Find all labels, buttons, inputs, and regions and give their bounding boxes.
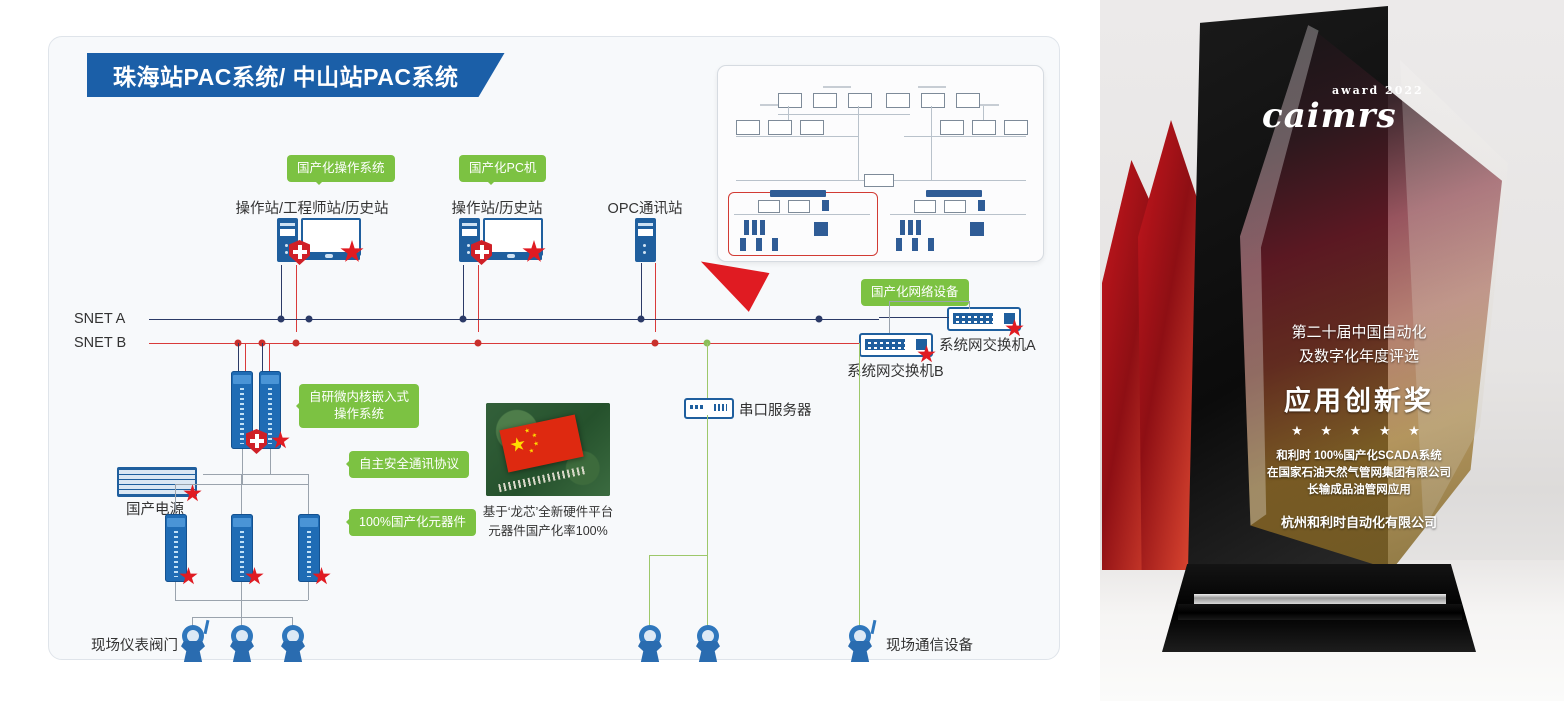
caimrs-logo-sub: award 2022 xyxy=(1332,84,1424,97)
power-supply-icon[interactable] xyxy=(117,467,197,497)
trophy-red-fin-2 xyxy=(1138,120,1198,570)
pac-system-diagram: 珠海站PAC系统/ 中山站PAC系统 xyxy=(48,36,1060,660)
label-serial-server: 串口服务器 xyxy=(739,399,812,420)
rack-leds xyxy=(240,388,244,444)
label-workstation-2: 操作站/历史站 xyxy=(451,197,542,218)
rack-cap xyxy=(233,518,251,527)
caimrs-logo: caimrs xyxy=(1262,96,1397,136)
trophy-base-band xyxy=(1194,594,1446,604)
award-line-2: 及数字化年度评选 xyxy=(1240,345,1478,366)
award-desc-3: 长输成品油管网应用 xyxy=(1228,481,1490,497)
award-title: 应用创新奖 xyxy=(1240,379,1478,418)
io-rack-1[interactable] xyxy=(165,514,187,582)
instrument-body xyxy=(696,641,720,662)
rack-leds xyxy=(174,531,178,577)
rack-leds xyxy=(307,531,311,577)
trophy-base-lower xyxy=(1178,604,1462,620)
diagram-title-banner: 珠海站PAC系统/ 中山站PAC系统 xyxy=(87,53,505,97)
field-comm-instrument-icon[interactable] xyxy=(693,625,723,665)
label-opc-station: OPC通讯站 xyxy=(608,197,683,218)
label-snet-b: SNET B xyxy=(74,335,126,351)
loongson-chip-photo xyxy=(486,403,610,496)
award-desc-1: 和利时 100%国产化SCADA系统 xyxy=(1228,447,1490,463)
label-field-valves: 现场仪表阀门 xyxy=(91,634,178,655)
instrument-body xyxy=(230,641,254,662)
award-stars: ★ ★ ★ ★ ★ xyxy=(1240,423,1478,439)
rack-cap xyxy=(261,375,279,384)
award-company: 杭州和利时自动化有限公司 xyxy=(1220,512,1498,531)
switch-led xyxy=(1004,313,1015,324)
callout-domestic-components: 100%国产化元器件 xyxy=(349,509,476,536)
instrument-body xyxy=(638,641,662,662)
switch-ports xyxy=(865,339,905,350)
rack-leds xyxy=(240,531,244,577)
instrument-body xyxy=(181,641,205,662)
callout-microkernel-os-line2: 操作系统 xyxy=(334,407,384,421)
instrument-body xyxy=(281,641,305,662)
io-rack-2[interactable] xyxy=(231,514,253,582)
award-desc-2: 在国家石油天然气管网集团有限公司 xyxy=(1228,464,1490,480)
security-shield-icon xyxy=(246,429,267,454)
award-trophy-photo: caimrs award 2022 第二十届中国自动化 及数字化年度评选 应用创… xyxy=(1100,0,1564,701)
callout-microkernel-os: 自研微内核嵌入式 操作系统 xyxy=(299,384,419,428)
chip-caption-line1: 基于‘龙芯’全新硬件平台 xyxy=(471,503,625,522)
serial-server-icon[interactable] xyxy=(684,398,734,419)
callout-os: 国产化操作系统 xyxy=(287,155,395,182)
label-field-comm: 现场通信设备 xyxy=(886,634,973,655)
field-instrument-icon[interactable] xyxy=(278,625,308,665)
label-snet-a: SNET A xyxy=(74,311,125,327)
switch-ports xyxy=(953,313,993,324)
award-line-1: 第二十届中国自动化 xyxy=(1240,321,1478,342)
label-switch-b: 系统网交换机B xyxy=(847,360,944,381)
instrument-antenna xyxy=(871,620,877,634)
field-comm-instrument-icon[interactable] xyxy=(845,625,875,665)
flag-big-star xyxy=(509,435,527,453)
field-instrument-icon[interactable] xyxy=(178,625,208,665)
instrument-antenna xyxy=(204,620,210,634)
field-comm-instrument-icon[interactable] xyxy=(635,625,665,665)
chip-caption: 基于‘龙芯’全新硬件平台 元器件国产化率100% xyxy=(471,503,625,541)
label-workstation-1: 操作站/工程师站/历史站 xyxy=(235,197,388,218)
switch-led xyxy=(916,339,927,350)
io-rack-3[interactable] xyxy=(298,514,320,582)
rack-cap xyxy=(167,518,185,527)
label-switch-a: 系统网交换机A xyxy=(939,334,1036,355)
rack-cap xyxy=(233,375,251,384)
opc-station-icon[interactable] xyxy=(635,218,656,262)
chip-caption-line2: 元器件国产化率100% xyxy=(471,522,625,541)
callout-pc: 国产化PC机 xyxy=(459,155,546,182)
field-instrument-icon[interactable] xyxy=(227,625,257,665)
screenshot-root: 珠海站PAC系统/ 中山站PAC系统 xyxy=(0,0,1564,701)
rack-leds xyxy=(268,388,272,444)
instrument-body xyxy=(848,641,872,662)
callout-microkernel-os-line1: 自研微内核嵌入式 xyxy=(309,390,409,404)
inset-overview-diagram xyxy=(717,65,1044,262)
snet-a-bus xyxy=(149,319,879,320)
callout-secure-protocol: 自主安全通讯协议 xyxy=(349,451,469,478)
rack-cap xyxy=(300,518,318,527)
